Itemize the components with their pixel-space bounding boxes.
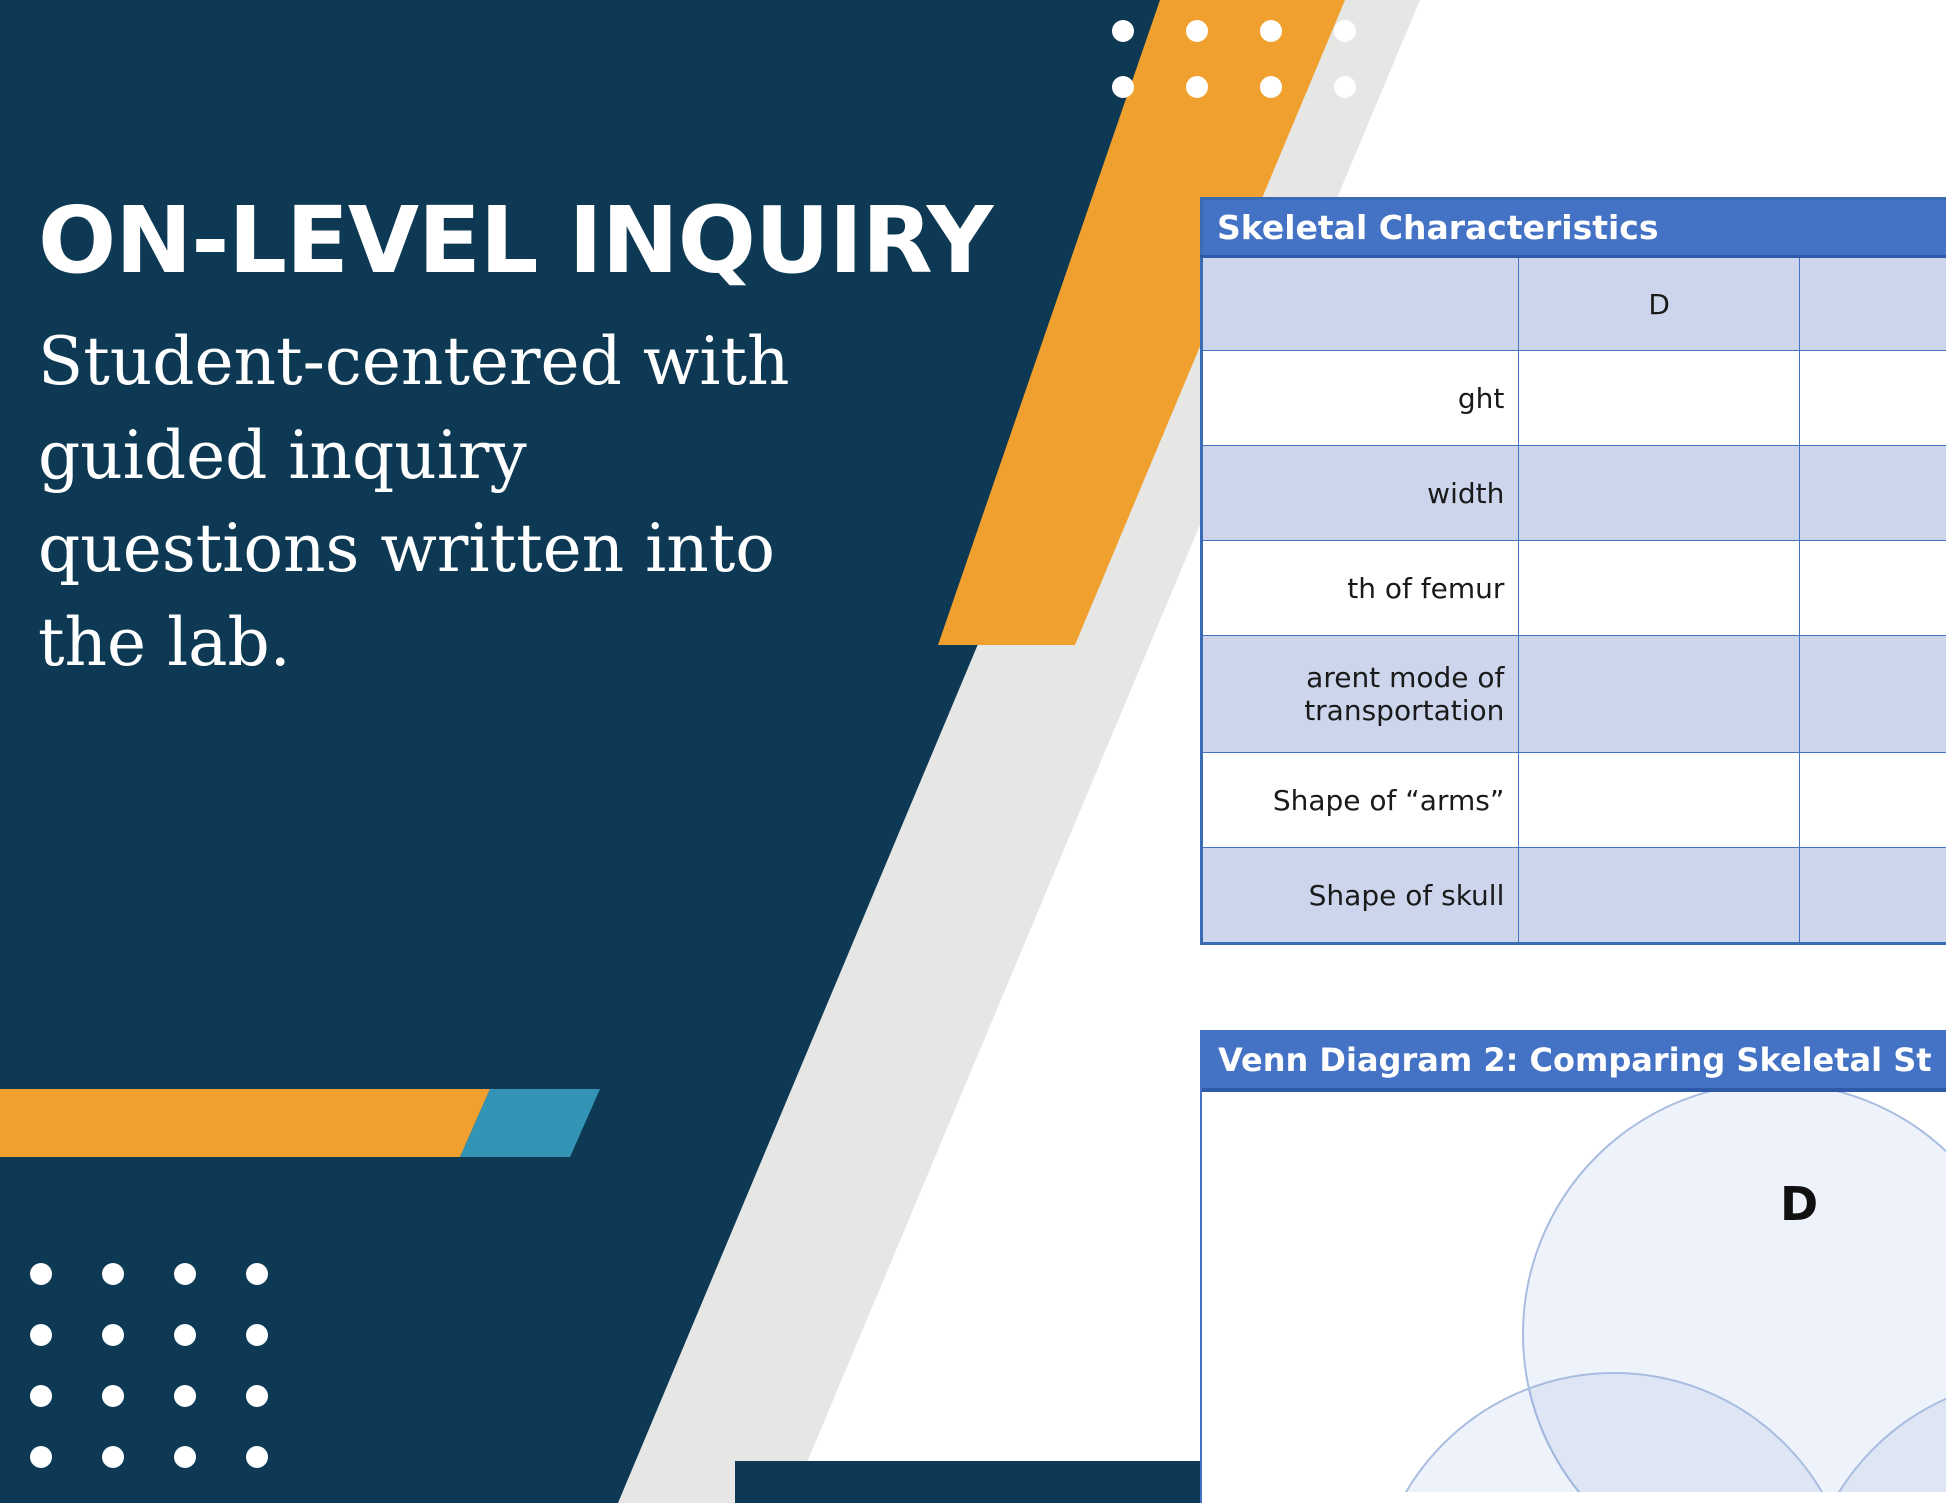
- column-header-blank-right: [1800, 257, 1946, 351]
- row-cell-e[interactable]: [1800, 541, 1946, 636]
- decorative-dot: [30, 1324, 52, 1346]
- decorative-dot: [30, 1446, 52, 1468]
- venn-diagram-area: D: [1202, 1092, 1946, 1492]
- table-row: Shape of skull: [1202, 848, 1946, 944]
- row-cell-e[interactable]: [1800, 351, 1946, 446]
- row-label: ght: [1202, 351, 1519, 446]
- row-label: width: [1202, 446, 1519, 541]
- headline-block: ON-LEVEL INQUIRY Student-centered with g…: [38, 195, 1058, 690]
- orange-accent-bar: [0, 1089, 490, 1157]
- decorative-dot: [102, 1385, 124, 1407]
- worksheet-document: Skeletal Characteristics D ght width th …: [1100, 0, 1946, 1503]
- row-cell-e[interactable]: [1800, 848, 1946, 944]
- table-row: th of femur: [1202, 541, 1946, 636]
- row-cell-d[interactable]: [1519, 446, 1800, 541]
- decorative-dot: [30, 1385, 52, 1407]
- row-label: Shape of “arms”: [1202, 753, 1519, 848]
- decorative-dot: [174, 1263, 196, 1285]
- decorative-dot: [102, 1446, 124, 1468]
- row-cell-e[interactable]: [1800, 753, 1946, 848]
- skeletal-characteristics-table: Skeletal Characteristics D ght width th …: [1200, 197, 1946, 945]
- table-title-row: Skeletal Characteristics: [1202, 199, 1946, 257]
- decorative-dot: [246, 1324, 268, 1346]
- table-row: width: [1202, 446, 1946, 541]
- row-cell-d[interactable]: [1519, 541, 1800, 636]
- row-cell-e[interactable]: [1800, 636, 1946, 753]
- decorative-dot: [246, 1263, 268, 1285]
- table-row: arent mode of transportation: [1202, 636, 1946, 753]
- venn-diagram-panel: Venn Diagram 2: Comparing Skeletal St D: [1200, 1030, 1946, 1503]
- decorative-dot: [246, 1385, 268, 1407]
- decorative-dot: [174, 1385, 196, 1407]
- table-column-header-row: D: [1202, 257, 1946, 351]
- row-cell-e[interactable]: [1800, 446, 1946, 541]
- decorative-dot: [102, 1324, 124, 1346]
- decorative-dot: [102, 1263, 124, 1285]
- slide-canvas: Skeletal Characteristics D ght width th …: [0, 0, 1946, 1503]
- decorative-dot: [174, 1446, 196, 1468]
- table-row: Shape of “arms”: [1202, 753, 1946, 848]
- row-cell-d[interactable]: [1519, 351, 1800, 446]
- row-cell-d[interactable]: [1519, 848, 1800, 944]
- accent-banner: [0, 1089, 610, 1157]
- venn-label-d: D: [1780, 1177, 1818, 1231]
- decorative-dot: [30, 1263, 52, 1285]
- table-row: ght: [1202, 351, 1946, 446]
- column-header-blank-left: [1202, 257, 1519, 351]
- venn-diagram-title: Venn Diagram 2: Comparing Skeletal St: [1202, 1032, 1946, 1092]
- column-header-d: D: [1519, 257, 1800, 351]
- row-cell-d[interactable]: [1519, 636, 1800, 753]
- decorative-dot: [174, 1324, 196, 1346]
- subheading-text: Student-centered with guided inquiry que…: [38, 315, 808, 690]
- page-title: ON-LEVEL INQUIRY: [38, 195, 1058, 287]
- row-label: Shape of skull: [1202, 848, 1519, 944]
- row-label: th of femur: [1202, 541, 1519, 636]
- table-title: Skeletal Characteristics: [1202, 199, 1946, 257]
- decorative-dot: [246, 1446, 268, 1468]
- row-cell-d[interactable]: [1519, 753, 1800, 848]
- row-label: arent mode of transportation: [1202, 636, 1519, 753]
